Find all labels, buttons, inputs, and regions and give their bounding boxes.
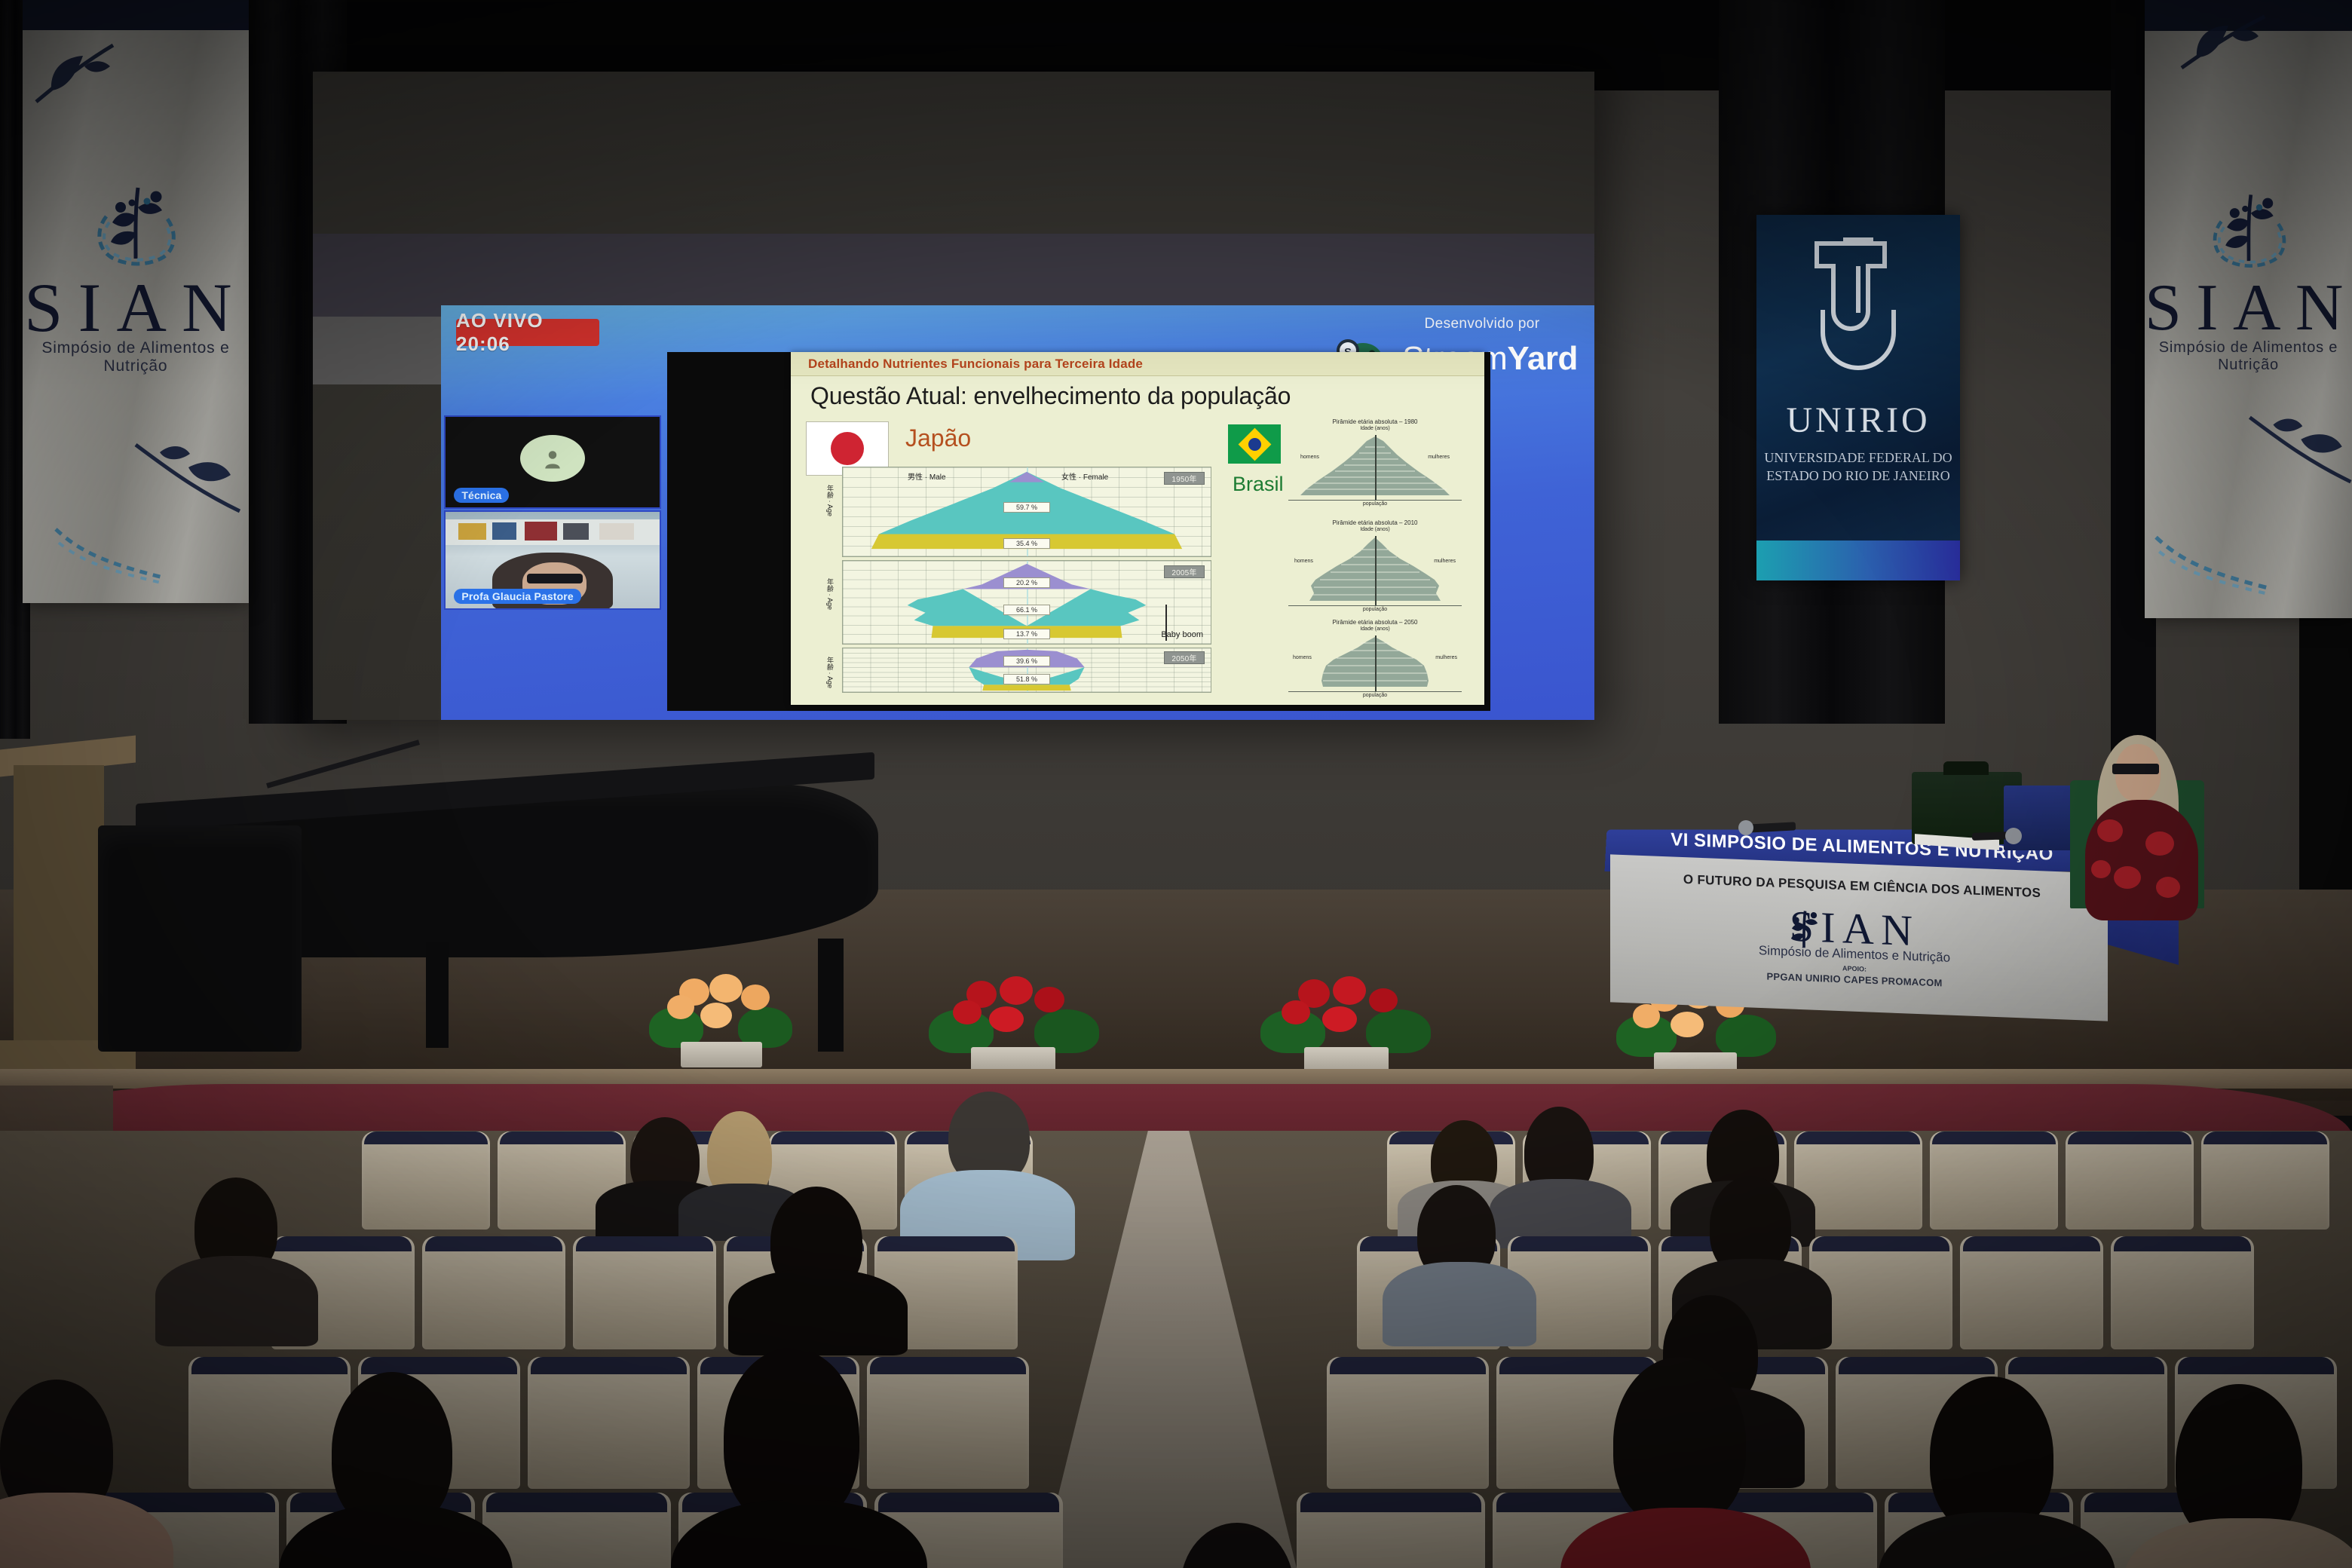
participant-tile-glaucia[interactable]: Profa Glaucia Pastore [444, 510, 661, 610]
piano-leg [426, 942, 449, 1048]
flower-bloom [1000, 976, 1033, 1005]
brazil-female-label: mulheres [1434, 559, 1456, 564]
dress-pattern [2097, 819, 2123, 842]
brazil-male-label: homens [1300, 455, 1319, 460]
piano-leg [818, 939, 844, 1052]
banner-sian-subtitle: Simpósio de Alimentos e Nutrição [23, 339, 249, 375]
annotation-pointer [1165, 605, 1167, 641]
chart-baseline [1288, 691, 1462, 692]
presentation-slide: Detalhando Nutrientes Funcionais para Te… [791, 352, 1484, 705]
flower-bloom [667, 995, 694, 1019]
seat[interactable] [362, 1132, 490, 1230]
slide-header: Detalhando Nutrientes Funcionais para Te… [791, 352, 1484, 376]
seat[interactable] [1930, 1132, 2058, 1230]
flower-bloom [953, 1000, 982, 1024]
year-badge-2050: 2050年 [1164, 651, 1205, 664]
chart-baseline [1288, 605, 1462, 606]
flower-bloom [700, 1003, 732, 1028]
band-label-65plus: 20.2 % [1003, 577, 1050, 588]
seat[interactable] [528, 1357, 690, 1489]
leaf-decoration-bottom-icon [121, 422, 249, 528]
japan-pyramid-2050: 39.6 % 51.8 % 2050年 [842, 648, 1211, 693]
seat[interactable] [2111, 1236, 2254, 1349]
projection-screen: AO VIVO 20:06 Desenvolvido por S StreamY… [313, 72, 1594, 720]
japan-age-axis-label: 年齢 · Age [825, 578, 835, 610]
banner-unirio-line1: UNIVERSIDADE FEDERAL DO [1756, 449, 1960, 467]
flower-bloom [709, 974, 743, 1003]
shelf-item [492, 522, 516, 540]
flower-bloom [1333, 976, 1366, 1005]
seat[interactable] [422, 1236, 565, 1349]
baby-boom-annotation: Baby boom [1161, 630, 1203, 639]
leaf-decoration-bottom-icon [2235, 392, 2352, 501]
shelf-item [599, 523, 633, 540]
japan-pyramid-2005: 20.2 % 66.1 % 13.7 % 2005年 Baby boom [842, 560, 1211, 645]
flower-bloom [741, 985, 770, 1010]
shelf-item [563, 523, 589, 540]
auditorium-scene: SIAN Simpósio de Alimentos e Nutrição [0, 0, 2352, 1568]
flower-arrangement [927, 976, 1101, 1067]
dress-pattern [2114, 866, 2141, 889]
banner-sian-right: SIAN Simpósio de Alimentos e Nutrição [2145, 0, 2352, 618]
brazil-male-label: homens [1293, 655, 1312, 660]
sian-plant-dna-icon [2196, 177, 2301, 274]
flower-bloom [1369, 988, 1398, 1012]
person-avatar-icon [520, 435, 585, 482]
band-label-15-64: 51.8 % [1003, 674, 1050, 684]
live-status-badge: AO VIVO 20:06 [456, 319, 599, 346]
audience-head [1613, 1357, 1746, 1527]
banner-unirio-right: UNIRIO UNIVERSIDADE FEDERAL DO ESTADO DO… [1756, 215, 1960, 580]
seat[interactable] [2201, 1132, 2329, 1230]
powered-by-label: Desenvolvido por [1388, 316, 1576, 332]
brazil-y-axis-label: Idade (anos) [1288, 626, 1462, 633]
female-label: 女性 · Female [1061, 470, 1108, 482]
brazil-caption-2050: Pirâmide etária absoluta – 2050 [1288, 619, 1462, 626]
seat[interactable] [1960, 1236, 2103, 1349]
brazil-x-axis-label: população [1288, 693, 1462, 700]
brand-name-bold: Yard [1507, 340, 1578, 377]
unirio-crest-icon [1802, 237, 1915, 381]
band-label-15-64: 66.1 % [1003, 605, 1050, 615]
chart-baseline [1288, 500, 1462, 501]
leaf-decoration-icon [2171, 6, 2292, 93]
brazil-caption-1980: Pirâmide etária absoluta – 1980 [1288, 418, 1462, 426]
chart-axis [1375, 635, 1377, 691]
glasses-icon [527, 574, 583, 583]
piano-keyboard-housing [98, 825, 302, 1052]
slide-title: Questão Atual: envelhecimento da populaç… [810, 382, 1291, 410]
glasses-icon [2112, 764, 2159, 774]
dna-decoration-icon [2152, 528, 2273, 599]
seat[interactable] [2066, 1132, 2194, 1230]
dna-decoration-icon [53, 520, 166, 588]
brazil-label: Brasil [1233, 473, 1284, 496]
brazil-pyramid-2010: Pirâmide etária absoluta – 2010 Idade (a… [1288, 522, 1462, 611]
screen-band-dark [313, 234, 1594, 317]
japan-label: Japão [905, 424, 971, 452]
center-aisle [1040, 1131, 1297, 1568]
japan-age-axis-label: 年齢 · Age [825, 485, 835, 516]
audience-shoulder [728, 1269, 908, 1355]
shelf-item [458, 523, 486, 540]
brazil-flag-icon [1228, 424, 1281, 464]
brazil-y-axis-label: Idade (anos) [1288, 426, 1462, 433]
seat[interactable] [482, 1493, 671, 1568]
brazil-female-label: mulheres [1435, 655, 1457, 660]
banner-topbar [23, 0, 249, 30]
banner-sian-left: SIAN Simpósio de Alimentos e Nutrição [23, 0, 249, 603]
banner-sian-wordmark: SIAN [2145, 270, 2352, 346]
briefcase-handle [1943, 761, 1989, 775]
banner-unirio-line2: ESTADO DO RIO DE JANEIRO [1756, 467, 1960, 485]
dress-pattern [2156, 877, 2180, 898]
slide-header-text: Detalhando Nutrientes Funcionais para Te… [791, 357, 1143, 372]
brazil-y-axis-label: Idade (anos) [1288, 527, 1462, 534]
brazil-male-label: homens [1294, 559, 1313, 564]
leaf-decoration-icon [29, 30, 142, 121]
japan-pyramid-1950: 59.7 % 35.4 % 1950年 男性 · Male 女性 · Femal… [842, 467, 1211, 557]
lectern-column [14, 765, 104, 1052]
banner-sian-wordmark: SIAN [23, 268, 249, 348]
seat[interactable] [1327, 1357, 1489, 1489]
male-label: 男性 · Male [908, 470, 946, 482]
year-badge-1950: 1950年 [1164, 472, 1205, 485]
brazil-x-axis-label: população [1288, 501, 1462, 508]
seat[interactable] [1297, 1493, 1485, 1568]
audience-shoulder [1383, 1262, 1536, 1346]
flower-bloom [1034, 987, 1064, 1012]
dress-pattern [2091, 860, 2111, 878]
pyramid-shape [843, 648, 1211, 692]
seat[interactable] [573, 1236, 716, 1349]
flower-pot [681, 1042, 762, 1067]
banner-sian-subtitle: Simpósio de Alimentos e Nutrição [2145, 339, 2352, 374]
flower-bloom [1322, 1006, 1357, 1032]
sian-plant-dna-icon [79, 170, 192, 271]
audience-head [724, 1348, 859, 1526]
flower-bloom [989, 1006, 1024, 1032]
chart-axis [1375, 435, 1377, 500]
participant-name: Profa Glaucia Pastore [454, 589, 580, 604]
chart-axis [1375, 536, 1377, 605]
brazil-pyramid-1980: Pirâmide etária absoluta – 1980 Idade (a… [1288, 421, 1462, 504]
seat[interactable] [867, 1357, 1029, 1489]
dress-pattern [2145, 831, 2174, 856]
moderator-at-table [2066, 727, 2239, 939]
avatar-glyph-icon [541, 447, 564, 470]
microphone-head [1738, 820, 1753, 835]
banner-unirio-wordmark: UNIRIO [1756, 400, 1960, 441]
brazil-caption-2010: Pirâmide etária absoluta – 2010 [1288, 519, 1462, 527]
band-label-0-14: 13.7 % [1003, 629, 1050, 639]
seat[interactable] [188, 1357, 351, 1489]
brazil-pyramid-2050: Pirâmide etária absoluta – 2050 Idade (a… [1288, 622, 1462, 697]
japan-age-axis-label: 年齢 · Age [825, 657, 835, 688]
audience-shoulder [155, 1256, 318, 1346]
flower-bloom [1282, 1000, 1310, 1024]
band-label-15-64: 59.7 % [1003, 502, 1050, 513]
participant-tile-tecnica[interactable]: Técnica [444, 415, 661, 509]
brazil-female-label: mulheres [1428, 455, 1450, 460]
flower-arrangement [645, 972, 795, 1063]
participant-name: Técnica [454, 488, 509, 503]
band-label-65plus: 39.6 % [1003, 656, 1050, 666]
brazil-x-axis-label: população [1288, 607, 1462, 614]
microphone-head [2005, 828, 2022, 844]
audience-head [1930, 1377, 2053, 1535]
streamyard-broadcast: AO VIVO 20:06 Desenvolvido por S StreamY… [441, 305, 1594, 720]
audience-area [0, 1131, 2352, 1568]
screen-share-frame: Detalhando Nutrientes Funcionais para Te… [667, 352, 1490, 711]
band-label-0-14: 35.4 % [1003, 538, 1050, 549]
flower-arrangement [1259, 976, 1432, 1067]
shelf-item [525, 522, 557, 541]
banner-bottom-stripe [1756, 541, 1960, 580]
year-badge-2005: 2005年 [1164, 565, 1205, 578]
